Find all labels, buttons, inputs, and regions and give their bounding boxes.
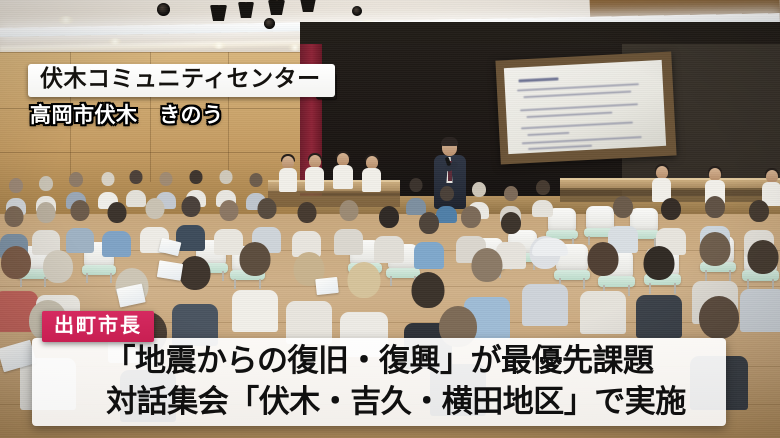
- projection-screen: [504, 60, 666, 154]
- audience-member: [656, 198, 686, 250]
- audience-member: [98, 172, 118, 206]
- ceiling-can-light-icon: [264, 18, 275, 29]
- downlight-glow: [212, 42, 226, 49]
- audience-member: [292, 202, 321, 252]
- location-plate: 伏木コミュニティセンター: [28, 64, 335, 97]
- audience-member: [66, 200, 94, 248]
- audience-member: [414, 212, 444, 264]
- official-seated: [333, 153, 353, 192]
- audience-member: [636, 246, 682, 330]
- speaker-hair: [441, 137, 458, 146]
- location-plate-text: 伏木コミュニティセンター: [40, 67, 321, 93]
- downlight-glow: [108, 38, 122, 45]
- audience-member: [334, 200, 363, 250]
- caption-banner: 「地震からの復旧・復興」が最優先課題 対話集会「伏木・吉久・横田地区」で実施: [32, 338, 726, 426]
- audience-member-with-hat: [528, 238, 572, 278]
- audience-member: [374, 206, 404, 258]
- caption-line-2: 対話集会「伏木・吉久・横田地区」で実施: [72, 382, 686, 423]
- handout-paper: [315, 277, 339, 295]
- audience-member: [608, 196, 638, 248]
- ceiling-can-light-icon: [157, 3, 170, 16]
- audience-member: [406, 178, 426, 212]
- caption-line-1: 「地震からの復旧・復興」が最優先課題: [105, 341, 654, 382]
- speaker-name-badge: 出町市長: [42, 311, 154, 342]
- stage-header-band: [300, 22, 780, 44]
- official-seated: [279, 156, 297, 192]
- speaker-name-badge-text: 出町市長: [54, 314, 142, 337]
- audience-member: [176, 196, 205, 246]
- audience-member: [532, 180, 553, 214]
- audience-member: [32, 202, 60, 250]
- handout-paper: [157, 260, 183, 281]
- audience-member: [232, 242, 278, 324]
- audience-member: [580, 242, 626, 326]
- official-seated: [305, 155, 324, 192]
- downlight-glow: [58, 16, 74, 24]
- official-seated: [362, 156, 381, 192]
- official-seated: [762, 170, 780, 204]
- audience-member: [102, 202, 131, 252]
- news-broadcast-frame: 伏木コミュニティセンター 高岡市伏木 きのう 出町市長 「地震からの復旧・復興」…: [0, 0, 780, 438]
- audience-member: [252, 198, 281, 248]
- audience-member: [340, 262, 388, 348]
- official-seated: [652, 166, 671, 200]
- ceiling-can-light-icon: [352, 6, 362, 16]
- location-subtext: 高岡市伏木 きのう: [30, 99, 224, 129]
- audience-member: [216, 170, 236, 204]
